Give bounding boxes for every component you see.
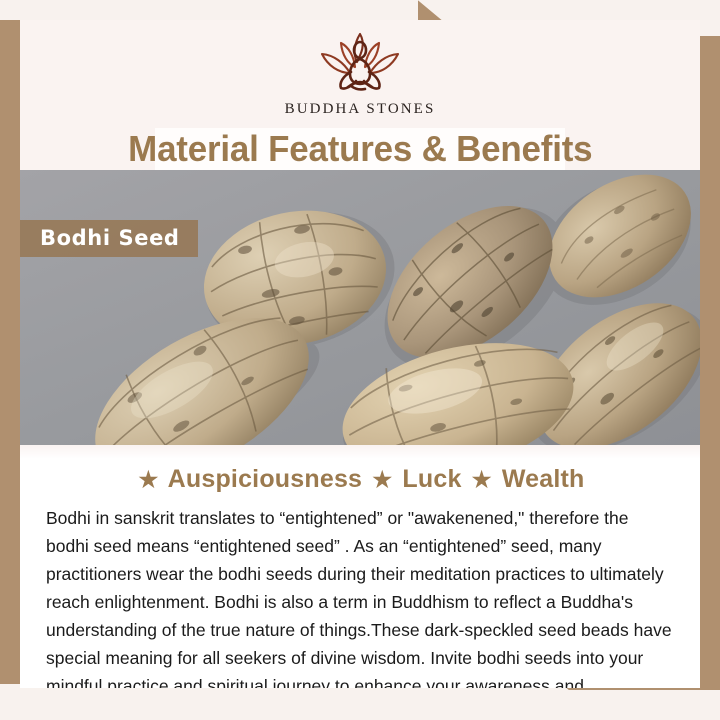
photo-caption: Bodhi Seed: [20, 220, 198, 257]
benefit-auspiciousness: Auspiciousness: [168, 465, 363, 493]
description-section: ★ Auspiciousness ★ Luck ★ Wealth Bodhi i…: [20, 445, 700, 688]
benefit-wealth: Wealth: [502, 465, 585, 493]
lotus-meditation-icon: [285, 28, 435, 100]
star-icon: ★: [138, 467, 158, 492]
header-section: BUDDHA STONES Material Features & Benefi…: [20, 20, 700, 170]
seed-illustration: [20, 170, 700, 445]
bodhi-seed-photo: Bodhi Seed: [20, 170, 700, 445]
brand-logo: BUDDHA STONES: [20, 28, 700, 118]
star-icon: ★: [372, 467, 392, 492]
content-card: BUDDHA STONES Material Features & Benefi…: [20, 20, 700, 688]
frame-corner-top-left: [0, 0, 418, 20]
benefit-luck: Luck: [402, 465, 461, 493]
star-icon: ★: [472, 467, 492, 492]
frame-corner-bottom-right: [533, 690, 720, 720]
description-paragraph: Bodhi in sanskrit translates to “entight…: [42, 504, 678, 688]
page-title: Material Features & Benefits: [128, 128, 592, 170]
page-title-band: Material Features & Benefits: [155, 128, 565, 170]
brand-name: BUDDHA STONES: [285, 101, 436, 118]
benefits-subtitle: ★ Auspiciousness ★ Luck ★ Wealth: [42, 465, 678, 494]
